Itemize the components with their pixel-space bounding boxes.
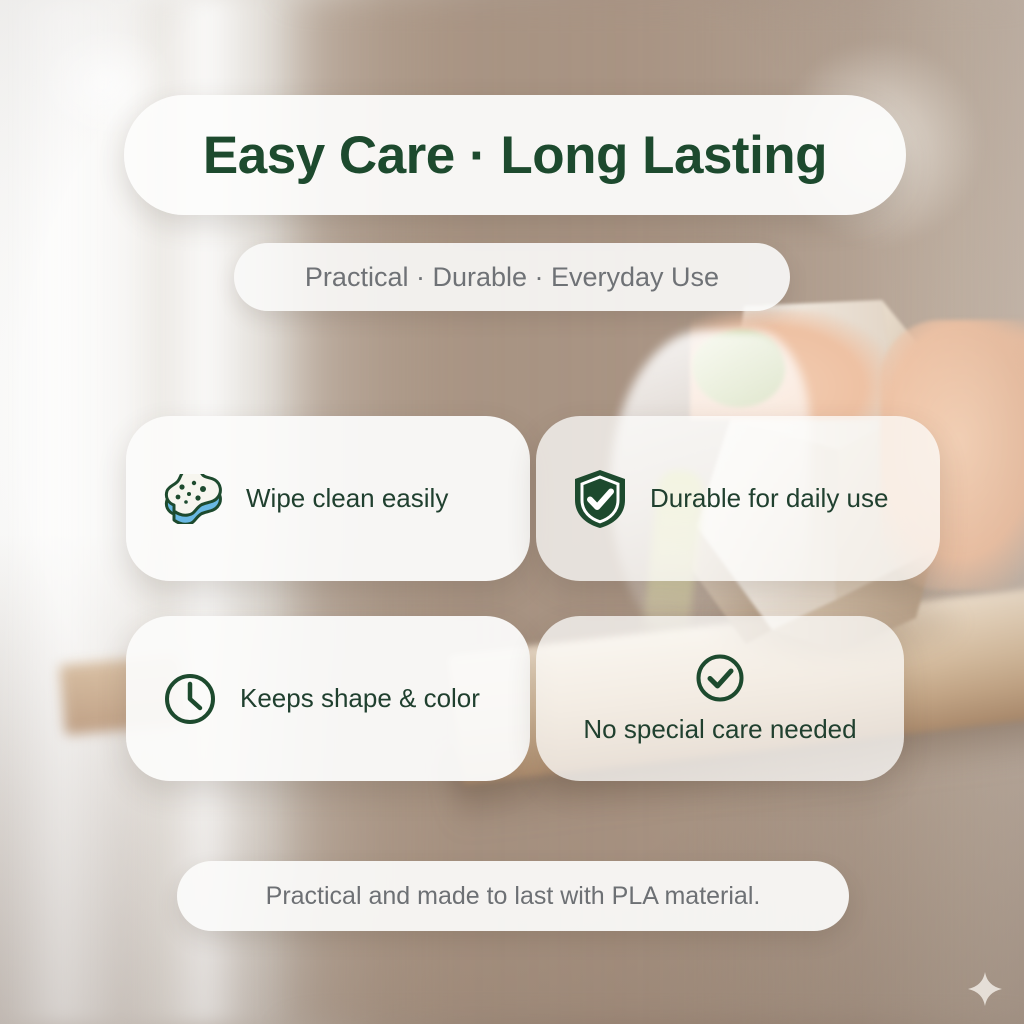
shield-check-icon: [572, 468, 628, 530]
title-pill: Easy Care · Long Lasting: [124, 95, 906, 215]
page-subtitle: Practical · Durable · Everyday Use: [305, 262, 719, 293]
feature-card-no-special-care[interactable]: No special care needed: [536, 616, 904, 781]
feature-label: Wipe clean easily: [246, 483, 448, 514]
feature-label: Durable for daily use: [650, 483, 888, 514]
footer-caption: Practical and made to last with PLA mate…: [266, 882, 761, 911]
subtitle-pill: Practical · Durable · Everyday Use: [234, 243, 790, 311]
feature-card-keeps-shape[interactable]: Keeps shape & color: [126, 616, 530, 781]
feature-card-durable[interactable]: Durable for daily use: [536, 416, 940, 581]
feature-label: No special care needed: [583, 714, 856, 745]
page-title: Easy Care · Long Lasting: [203, 125, 827, 186]
feature-card-wipe-clean[interactable]: Wipe clean easily: [126, 416, 530, 581]
check-circle-icon: [694, 652, 746, 704]
feature-label: Keeps shape & color: [240, 683, 480, 714]
clock-icon: [162, 671, 218, 727]
sponge-icon: [162, 474, 224, 524]
content-overlay: Easy Care · Long Lasting Practical · Dur…: [0, 0, 1024, 1024]
sparkle-icon: [968, 972, 1002, 1006]
product-feature-graphic: Easy Care · Long Lasting Practical · Dur…: [0, 0, 1024, 1024]
footer-pill: Practical and made to last with PLA mate…: [177, 861, 849, 931]
